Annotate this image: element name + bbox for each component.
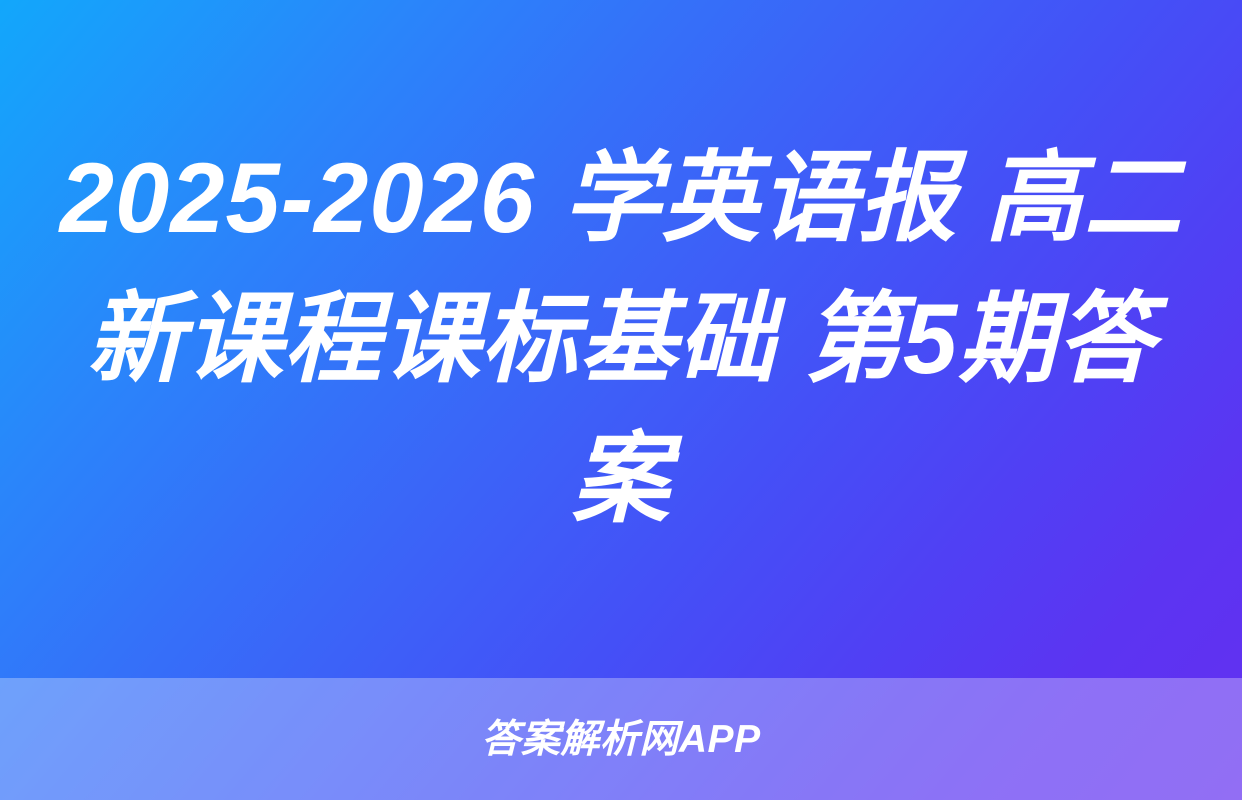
answer-banner: 2025-2026 学英语报 高二 新课程课标基础 第5期答案 答案解析网APP [0,0,1242,800]
app-watermark-label: 答案解析网APP [481,720,760,759]
watermark-bar: 答案解析网APP [0,678,1242,800]
page-title: 2025-2026 学英语报 高二 新课程课标基础 第5期答案 [55,128,1188,550]
title-area: 2025-2026 学英语报 高二 新课程课标基础 第5期答案 [0,0,1242,678]
